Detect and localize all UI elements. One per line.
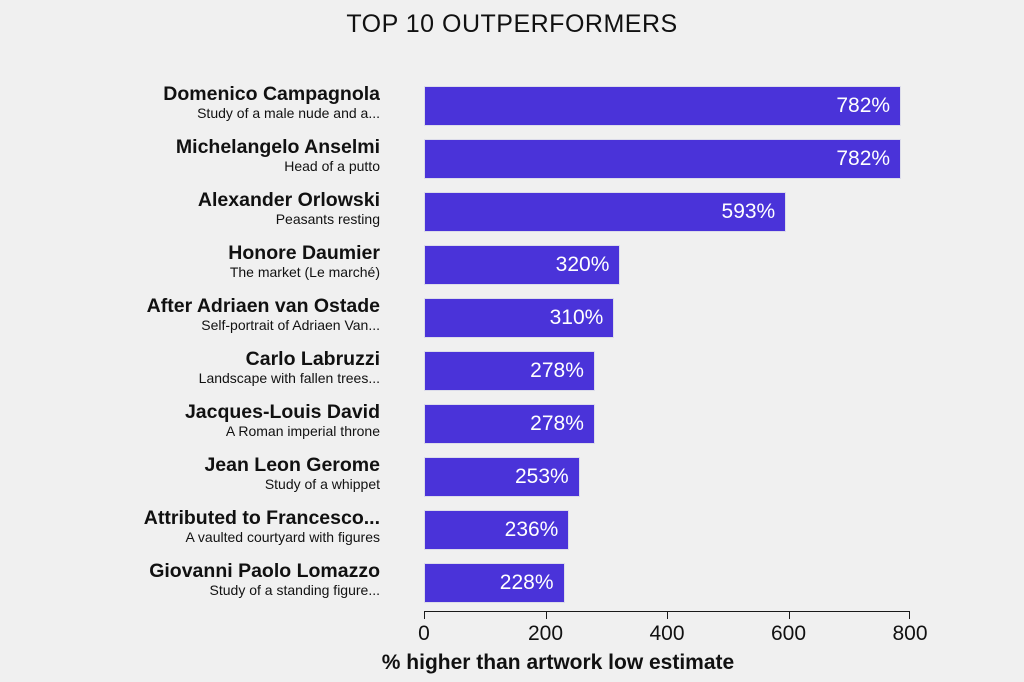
category-label: Attributed to Francesco...A vaulted cour… — [0, 507, 402, 560]
category-artist-name: After Adriaen van Ostade — [0, 295, 380, 317]
bar-row[interactable]: 253% — [424, 457, 910, 510]
bar[interactable]: 593% — [424, 192, 786, 232]
x-axis-title: % higher than artwork low estimate — [0, 651, 1024, 675]
category-label: After Adriaen van OstadeSelf-portrait of… — [0, 295, 402, 348]
category-artwork-title: Head of a putto — [0, 158, 380, 175]
bar[interactable]: 782% — [424, 139, 901, 179]
x-axis-tick-label: 200 — [528, 622, 563, 646]
bar-row[interactable]: 593% — [424, 192, 910, 245]
bar[interactable]: 253% — [424, 457, 580, 497]
category-artist-name: Jacques-Louis David — [0, 401, 380, 423]
bar-value-label: 593% — [722, 200, 786, 224]
bar-value-label: 320% — [556, 253, 620, 277]
chart-title: TOP 10 OUTPERFORMERS — [0, 10, 1024, 39]
bar[interactable]: 228% — [424, 563, 565, 603]
bar-row[interactable]: 782% — [424, 86, 910, 139]
bar-row[interactable]: 278% — [424, 404, 910, 457]
bar[interactable]: 320% — [424, 245, 620, 285]
category-artwork-title: Study of a male nude and a... — [0, 105, 380, 122]
bar-row[interactable]: 278% — [424, 351, 910, 404]
category-artist-name: Attributed to Francesco... — [0, 507, 380, 529]
bar-row[interactable]: 310% — [424, 298, 910, 351]
category-artwork-title: Landscape with fallen trees... — [0, 370, 380, 387]
category-label: Honore DaumierThe market (Le marché) — [0, 242, 402, 295]
x-axis-tick-label: 800 — [892, 622, 927, 646]
category-axis-labels: Domenico CampagnolaStudy of a male nude … — [0, 86, 402, 606]
bar-row[interactable]: 228% — [424, 563, 910, 616]
bar-value-label: 782% — [836, 94, 900, 118]
bar[interactable]: 782% — [424, 86, 901, 126]
x-axis-tick-label: 600 — [771, 622, 806, 646]
bar-value-label: 253% — [515, 465, 579, 489]
category-artist-name: Alexander Orlowski — [0, 189, 380, 211]
x-axis-tick — [789, 611, 790, 619]
category-artwork-title: Self-portrait of Adriaen Van... — [0, 317, 380, 334]
category-artwork-title: The market (Le marché) — [0, 264, 380, 281]
bar[interactable]: 278% — [424, 351, 595, 391]
category-artist-name: Carlo Labruzzi — [0, 348, 380, 370]
category-label: Michelangelo AnselmiHead of a putto — [0, 136, 402, 189]
category-artwork-title: A Roman imperial throne — [0, 423, 380, 440]
category-label: Carlo LabruzziLandscape with fallen tree… — [0, 348, 402, 401]
category-label: Domenico CampagnolaStudy of a male nude … — [0, 83, 402, 136]
category-label: Giovanni Paolo LomazzoStudy of a standin… — [0, 560, 402, 613]
category-label: Alexander OrlowskiPeasants resting — [0, 189, 402, 242]
bar-value-label: 236% — [505, 518, 569, 542]
bar-value-label: 228% — [500, 571, 564, 595]
category-artist-name: Michelangelo Anselmi — [0, 136, 380, 158]
bar-row[interactable]: 236% — [424, 510, 910, 563]
x-axis-tick — [546, 611, 547, 619]
category-artist-name: Giovanni Paolo Lomazzo — [0, 560, 380, 582]
x-axis-tick-label: 400 — [649, 622, 684, 646]
x-axis: 0200400600800 — [424, 611, 910, 612]
bar[interactable]: 310% — [424, 298, 614, 338]
category-label: Jacques-Louis DavidA Roman imperial thro… — [0, 401, 402, 454]
bar[interactable]: 278% — [424, 404, 595, 444]
category-artist-name: Honore Daumier — [0, 242, 380, 264]
plot-area: 782%782%593%320%310%278%278%253%236%228% — [424, 86, 910, 606]
x-axis-tick — [667, 611, 668, 619]
bar[interactable]: 236% — [424, 510, 569, 550]
bar-value-label: 278% — [530, 359, 594, 383]
category-artwork-title: A vaulted courtyard with figures — [0, 529, 380, 546]
bar-value-label: 278% — [530, 412, 594, 436]
x-axis-tick-label: 0 — [418, 622, 430, 646]
x-axis-tick — [424, 611, 425, 619]
category-artist-name: Domenico Campagnola — [0, 83, 380, 105]
category-label: Jean Leon GeromeStudy of a whippet — [0, 454, 402, 507]
bar-value-label: 782% — [836, 147, 900, 171]
bar-row[interactable]: 782% — [424, 139, 910, 192]
category-artwork-title: Study of a whippet — [0, 476, 380, 493]
category-artwork-title: Peasants resting — [0, 211, 380, 228]
category-artwork-title: Study of a standing figure... — [0, 582, 380, 599]
x-axis-tick — [909, 611, 910, 619]
bar-chart: TOP 10 OUTPERFORMERS Domenico Campagnola… — [0, 0, 1024, 682]
bar-value-label: 310% — [550, 306, 614, 330]
bar-row[interactable]: 320% — [424, 245, 910, 298]
category-artist-name: Jean Leon Gerome — [0, 454, 380, 476]
